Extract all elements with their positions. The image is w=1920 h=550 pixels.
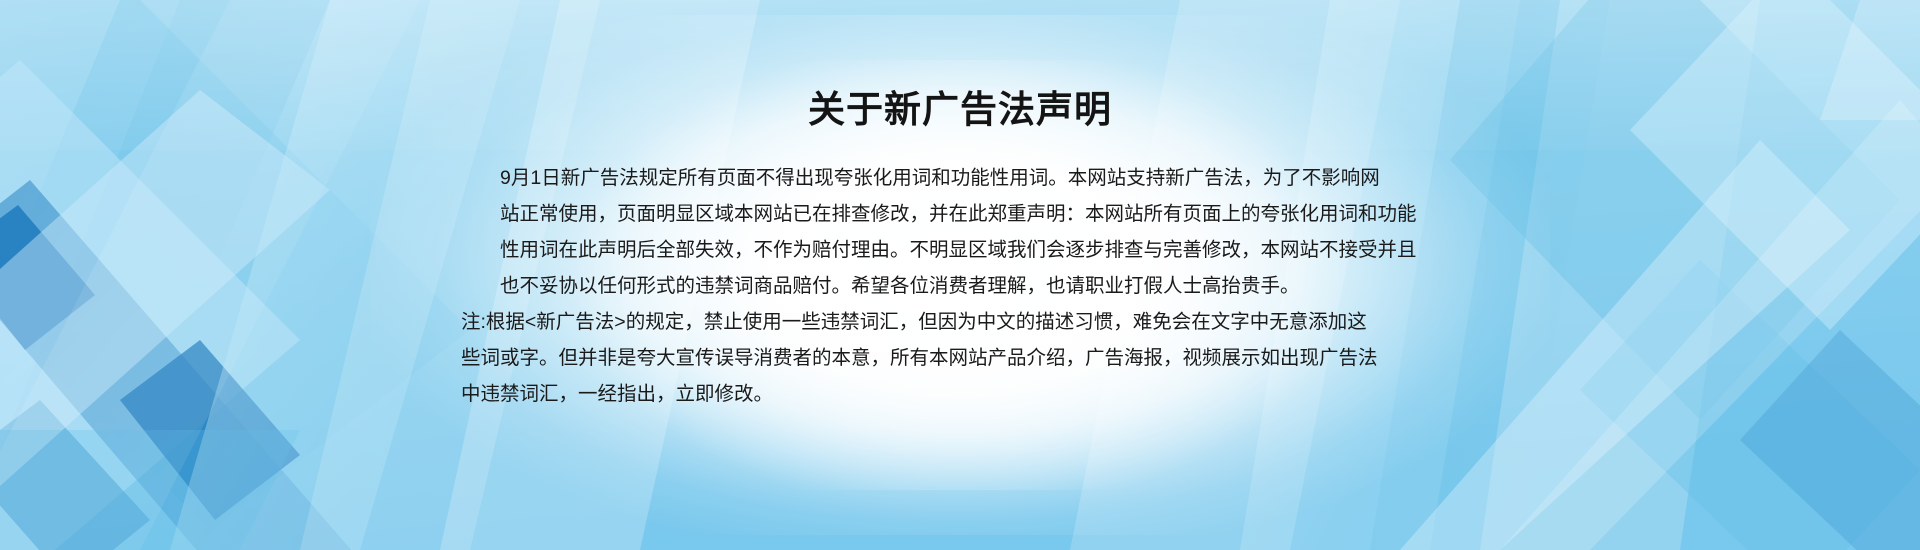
paragraph-statement: 9月1日新广告法规定所有页面不得出现夸张化用词和功能性用词。本网站支持新广告法，… bbox=[461, 160, 1459, 304]
statement-line: 站正常使用，页面明显区域本网站已在排查修改，并在此郑重声明：本网站所有页面上的夸… bbox=[461, 196, 1459, 232]
advertising-law-statement-banner: 关于新广告法声明 9月1日新广告法规定所有页面不得出现夸张化用词和功能性用词。本… bbox=[0, 0, 1920, 550]
paragraph-note: 注:根据<新广告法>的规定，禁止使用一些违禁词汇，但因为中文的描述习惯，难免会在… bbox=[461, 304, 1459, 412]
note-line: 中违禁词汇，一经指出，立即修改。 bbox=[461, 376, 1459, 412]
statement-body: 9月1日新广告法规定所有页面不得出现夸张化用词和功能性用词。本网站支持新广告法，… bbox=[461, 160, 1459, 412]
statement-line: 也不妥协以任何形式的违禁词商品赔付。希望各位消费者理解，也请职业打假人士高抬贵手… bbox=[461, 268, 1459, 304]
statement-line: 9月1日新广告法规定所有页面不得出现夸张化用词和功能性用词。本网站支持新广告法，… bbox=[461, 160, 1459, 196]
note-line: 些词或字。但并非是夸大宣传误导消费者的本意，所有本网站产品介绍，广告海报，视频展… bbox=[461, 340, 1459, 376]
note-line: 注:根据<新广告法>的规定，禁止使用一些违禁词汇，但因为中文的描述习惯，难免会在… bbox=[461, 304, 1459, 340]
statement-line: 性用词在此声明后全部失效，不作为赔付理由。不明显区域我们会逐步排查与完善修改，本… bbox=[461, 232, 1459, 268]
statement-content: 关于新广告法声明 9月1日新广告法规定所有页面不得出现夸张化用词和功能性用词。本… bbox=[460, 0, 1460, 550]
page-title: 关于新广告法声明 bbox=[460, 88, 1460, 132]
